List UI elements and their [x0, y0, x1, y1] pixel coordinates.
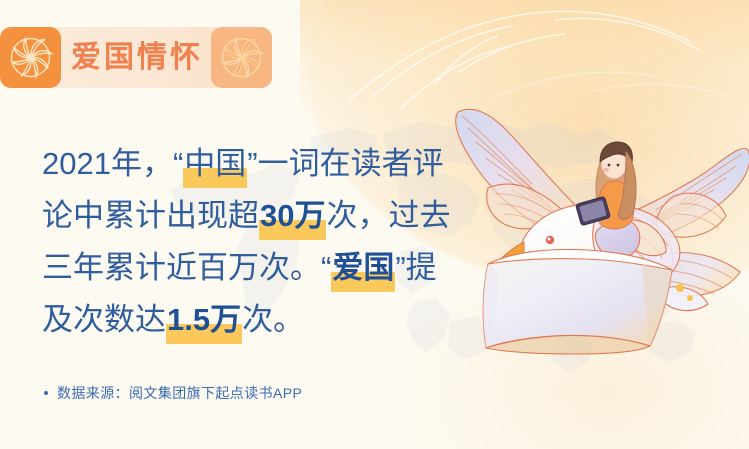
- highlight-300k: 30万: [259, 190, 326, 242]
- statement-run: 论中累计出现超: [42, 198, 259, 233]
- statement-line-4: 及次数达1.5万次。: [42, 294, 472, 346]
- spiral-medallion-icon-left: [0, 27, 61, 88]
- statement-block: 2021年，“中国”一词在读者评 论中累计出现超30万次，过去 三年累计近百万次…: [42, 138, 472, 346]
- background-warm-strip-top: [300, 0, 749, 150]
- section-header-bar: 爱国情怀: [0, 27, 272, 88]
- statement-run: ”提: [395, 250, 436, 285]
- statement-run: 三年累计近百万次。“: [42, 250, 331, 285]
- highlight-patriotism: 爱国: [331, 242, 395, 294]
- infographic-poster: 爱国情怀: [0, 0, 749, 449]
- highlight-15k: 1.5万: [166, 294, 242, 346]
- statement-line-1: 2021年，“中国”一词在读者评: [42, 138, 472, 190]
- statement-run: 2021年，: [42, 146, 173, 181]
- statement-run: 次，过去: [326, 198, 450, 233]
- statement-run: 及次数达: [42, 302, 166, 337]
- source-note-text: 数据来源：阅文集团旗下起点读书APP: [57, 383, 302, 403]
- open-quote: “: [173, 146, 183, 181]
- statement-run: ”一词在读者评: [247, 146, 443, 181]
- page-title: 爱国情怀: [71, 43, 203, 73]
- highlight-china: 中国: [183, 138, 247, 190]
- statement-run: 次。: [242, 302, 304, 337]
- statement-line-3: 三年累计近百万次。“爱国”提: [42, 242, 472, 294]
- spiral-medallion-icon-right: [211, 27, 272, 88]
- header-title-plate: 爱国情怀: [55, 27, 217, 88]
- bullet-dot-icon: [44, 391, 48, 395]
- source-note: 数据来源：阅文集团旗下起点读书APP: [44, 383, 302, 403]
- statement-line-2: 论中累计出现超30万次，过去: [42, 190, 472, 242]
